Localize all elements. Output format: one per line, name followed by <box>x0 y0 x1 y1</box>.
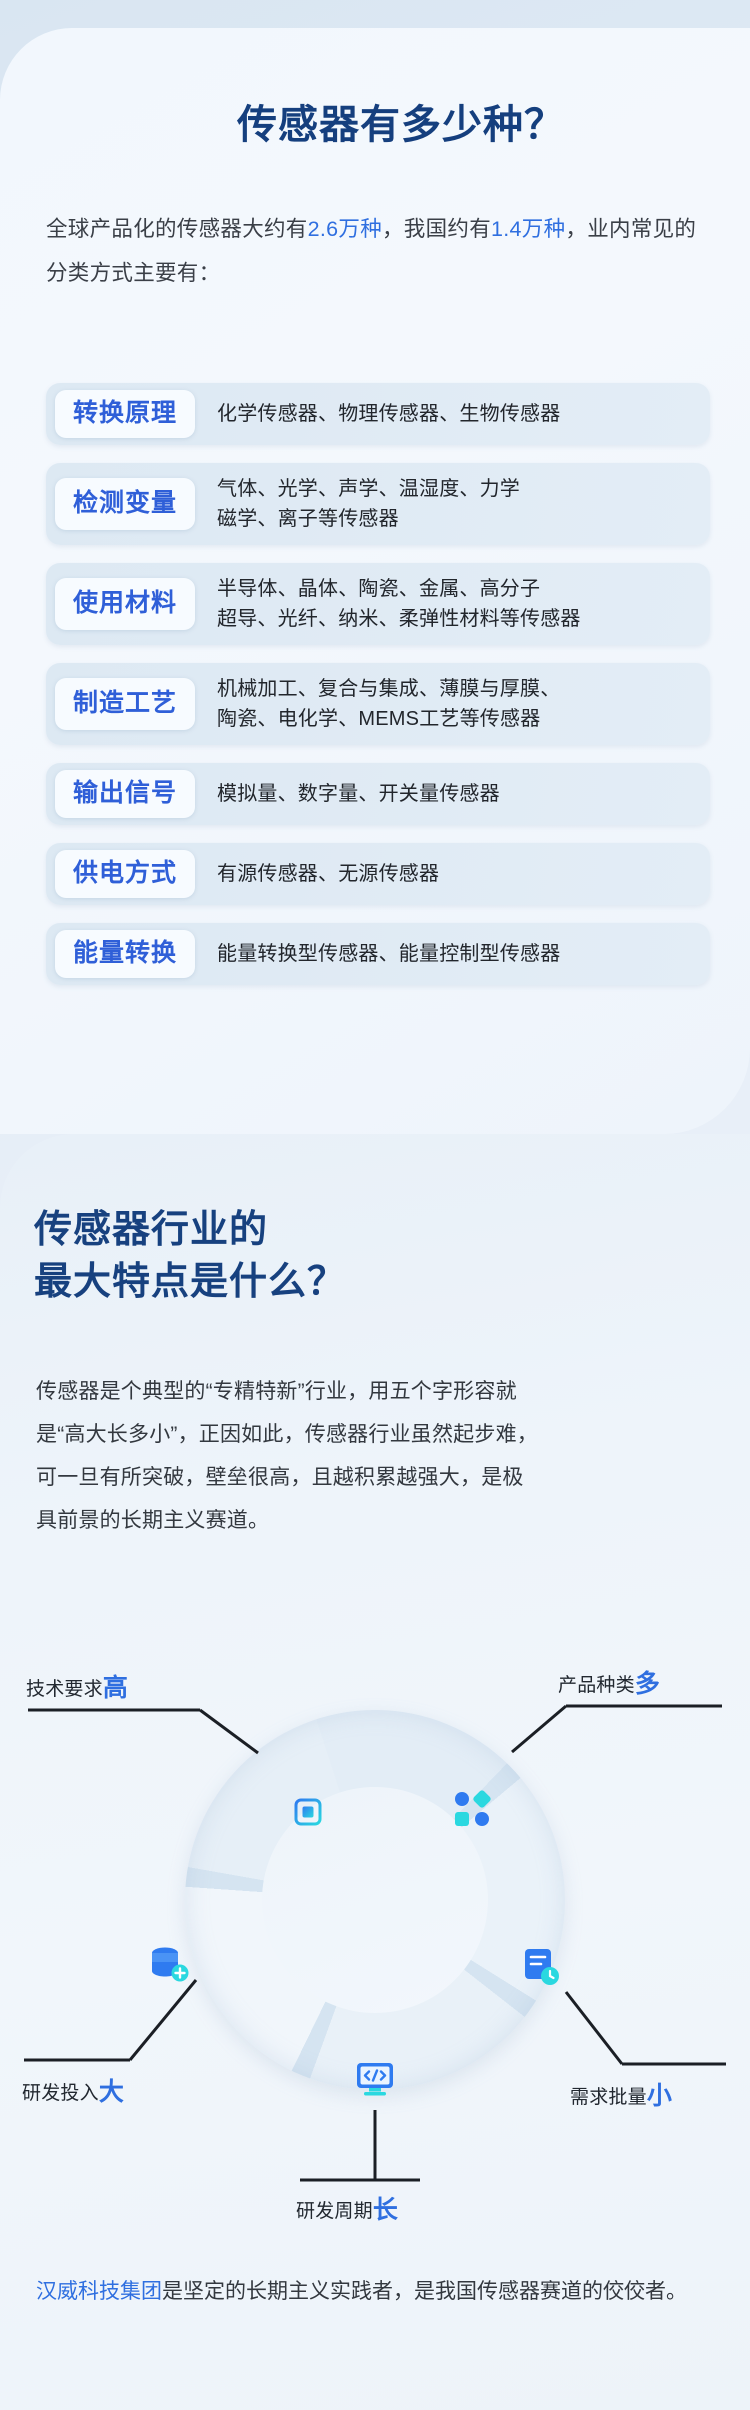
row-description-line: 有源传感器、无源传感器 <box>217 859 696 889</box>
label-product-variety: 产品种类多 <box>558 1664 660 1700</box>
table-row: 能量转换 能量转换型传感器、能量控制型传感器 <box>46 923 710 985</box>
section-two-intro: 传感器是个典型的“专精特新”行业，用五个字形容就 是“高大长多小”，正因如此，传… <box>36 1370 716 1542</box>
classification-row-list: 转换原理 化学传感器、物理传感器、生物传感器 检测变量 气体、光学、声学、温湿度… <box>46 383 710 1003</box>
section-two-intro-line: 可一旦有所突破，壁垒很高，且越积累越强大，是极 <box>36 1456 716 1499</box>
intro-highlight-global: 2.6万种 <box>308 217 382 241</box>
intro-highlight-unit: 种 <box>544 217 566 241</box>
row-label-chip: 使用材料 <box>55 578 195 630</box>
row-description-line: 模拟量、数字量、开关量传感器 <box>217 779 696 809</box>
row-description-line: 机械加工、复合与集成、薄膜与厚膜、 <box>217 674 696 704</box>
code-monitor-icon <box>351 2055 399 2103</box>
label-demand-batch: 需求批量小 <box>570 2076 672 2112</box>
row-label-chip: 检测变量 <box>55 478 195 530</box>
row-label-chip: 能量转换 <box>55 930 195 978</box>
intro-text-a: 全球产品化的传感器大约有 <box>46 217 308 241</box>
section-two-title: 传感器行业的 最大特点是什么？ <box>34 1204 346 1308</box>
row-description-line: 超导、光纤、纳米、柔弹性材料等传感器 <box>217 604 696 634</box>
label-tech-requirement: 技术要求高 <box>26 1668 128 1704</box>
outro-text: 是坚定的长期主义实践者，是我国传 <box>162 2280 498 2303</box>
table-row: 输出信号 模拟量、数字量、开关量传感器 <box>46 763 710 825</box>
chip-icon <box>284 1788 332 1836</box>
section-one-title: 传感器有多少种？ <box>0 92 750 150</box>
intro-text-b: ，我国约有 <box>382 217 491 241</box>
outro-text-line2: 感器赛道的佼佼者。 <box>498 2280 687 2303</box>
section-two-title-line2: 最大特点是什么？ <box>34 1256 346 1308</box>
label-rd-cycle-text: 研发周期 <box>296 2201 373 2222</box>
section-two-intro-line: 传感器是个典型的“专精特新”行业，用五个字形容就 <box>36 1370 716 1413</box>
row-description-line: 能量转换型传感器、能量控制型传感器 <box>217 939 696 969</box>
section-two-intro-line: 具前景的长期主义赛道。 <box>36 1499 716 1542</box>
table-row: 检测变量 气体、光学、声学、温湿度、力学 磁学、离子等传感器 <box>46 463 710 545</box>
row-description-line: 半导体、晶体、陶瓷、金属、高分子 <box>217 574 696 604</box>
label-tech-requirement-text: 技术要求 <box>26 1679 103 1700</box>
row-label-chip: 输出信号 <box>55 770 195 818</box>
database-icon <box>145 1940 193 1988</box>
section-one-intro: 全球产品化的传感器大约有2.6万种，我国约有1.4万种，业内常见的分类方式主要有… <box>46 207 712 295</box>
row-description-line: 陶瓷、电化学、MEMS工艺等传感器 <box>217 704 696 734</box>
label-product-variety-key: 多 <box>635 1670 660 1698</box>
row-label-chip: 转换原理 <box>55 390 195 438</box>
row-description: 模拟量、数字量、开关量传感器 <box>195 779 710 809</box>
label-demand-batch-text: 需求批量 <box>570 2087 647 2108</box>
label-rd-investment: 研发投入大 <box>22 2072 124 2108</box>
row-description-line: 气体、光学、声学、温湿度、力学 <box>217 474 696 504</box>
label-rd-investment-key: 大 <box>99 2078 124 2106</box>
section-two-title-line1: 传感器行业的 <box>34 1204 346 1256</box>
label-rd-cycle: 研发周期长 <box>296 2190 398 2226</box>
section-two-intro-line: 是“高大长多小”，正因如此，传感器行业虽然起步难， <box>36 1413 716 1456</box>
row-description: 有源传感器、无源传感器 <box>195 859 710 889</box>
row-description-line: 磁学、离子等传感器 <box>217 504 696 534</box>
label-product-variety-text: 产品种类 <box>558 1675 635 1696</box>
document-clock-icon <box>517 1943 565 1991</box>
label-rd-investment-text: 研发投入 <box>22 2083 99 2104</box>
leader-lines <box>0 1640 750 2260</box>
row-description: 气体、光学、声学、温湿度、力学 磁学、离子等传感器 <box>195 474 710 534</box>
row-description: 能量转换型传感器、能量控制型传感器 <box>195 939 710 969</box>
row-description-line: 化学传感器、物理传感器、生物传感器 <box>217 399 696 429</box>
grid-shapes-icon <box>448 1785 496 1833</box>
section-two-outro: 汉威科技集团是坚定的长期主义实践者，是我国传感器赛道的佼佼者。 <box>36 2270 726 2313</box>
company-name: 汉威科技集团 <box>36 2280 162 2303</box>
label-demand-batch-key: 小 <box>647 2082 672 2110</box>
table-row: 制造工艺 机械加工、复合与集成、薄膜与厚膜、 陶瓷、电化学、MEMS工艺等传感器 <box>46 663 710 745</box>
row-label-chip: 供电方式 <box>55 850 195 898</box>
table-row: 供电方式 有源传感器、无源传感器 <box>46 843 710 905</box>
label-tech-requirement-key: 高 <box>103 1674 128 1702</box>
row-description: 半导体、晶体、陶瓷、金属、高分子 超导、光纤、纳米、柔弹性材料等传感器 <box>195 574 710 634</box>
label-rd-cycle-key: 长 <box>373 2196 398 2224</box>
infographic-page: 传感器有多少种？ 全球产品化的传感器大约有2.6万种，我国约有1.4万种，业内常… <box>0 0 750 2410</box>
row-description: 化学传感器、物理传感器、生物传感器 <box>195 399 710 429</box>
table-row: 使用材料 半导体、晶体、陶瓷、金属、高分子 超导、光纤、纳米、柔弹性材料等传感器 <box>46 563 710 645</box>
intro-highlight-china: 1.4万 <box>491 217 544 241</box>
row-description: 机械加工、复合与集成、薄膜与厚膜、 陶瓷、电化学、MEMS工艺等传感器 <box>195 674 710 734</box>
characteristics-donut-diagram: 技术要求高 产品种类多 研发投入大 需求批量小 研发周期长 <box>0 1640 750 2260</box>
table-row: 转换原理 化学传感器、物理传感器、生物传感器 <box>46 383 710 445</box>
row-label-chip: 制造工艺 <box>55 678 195 730</box>
